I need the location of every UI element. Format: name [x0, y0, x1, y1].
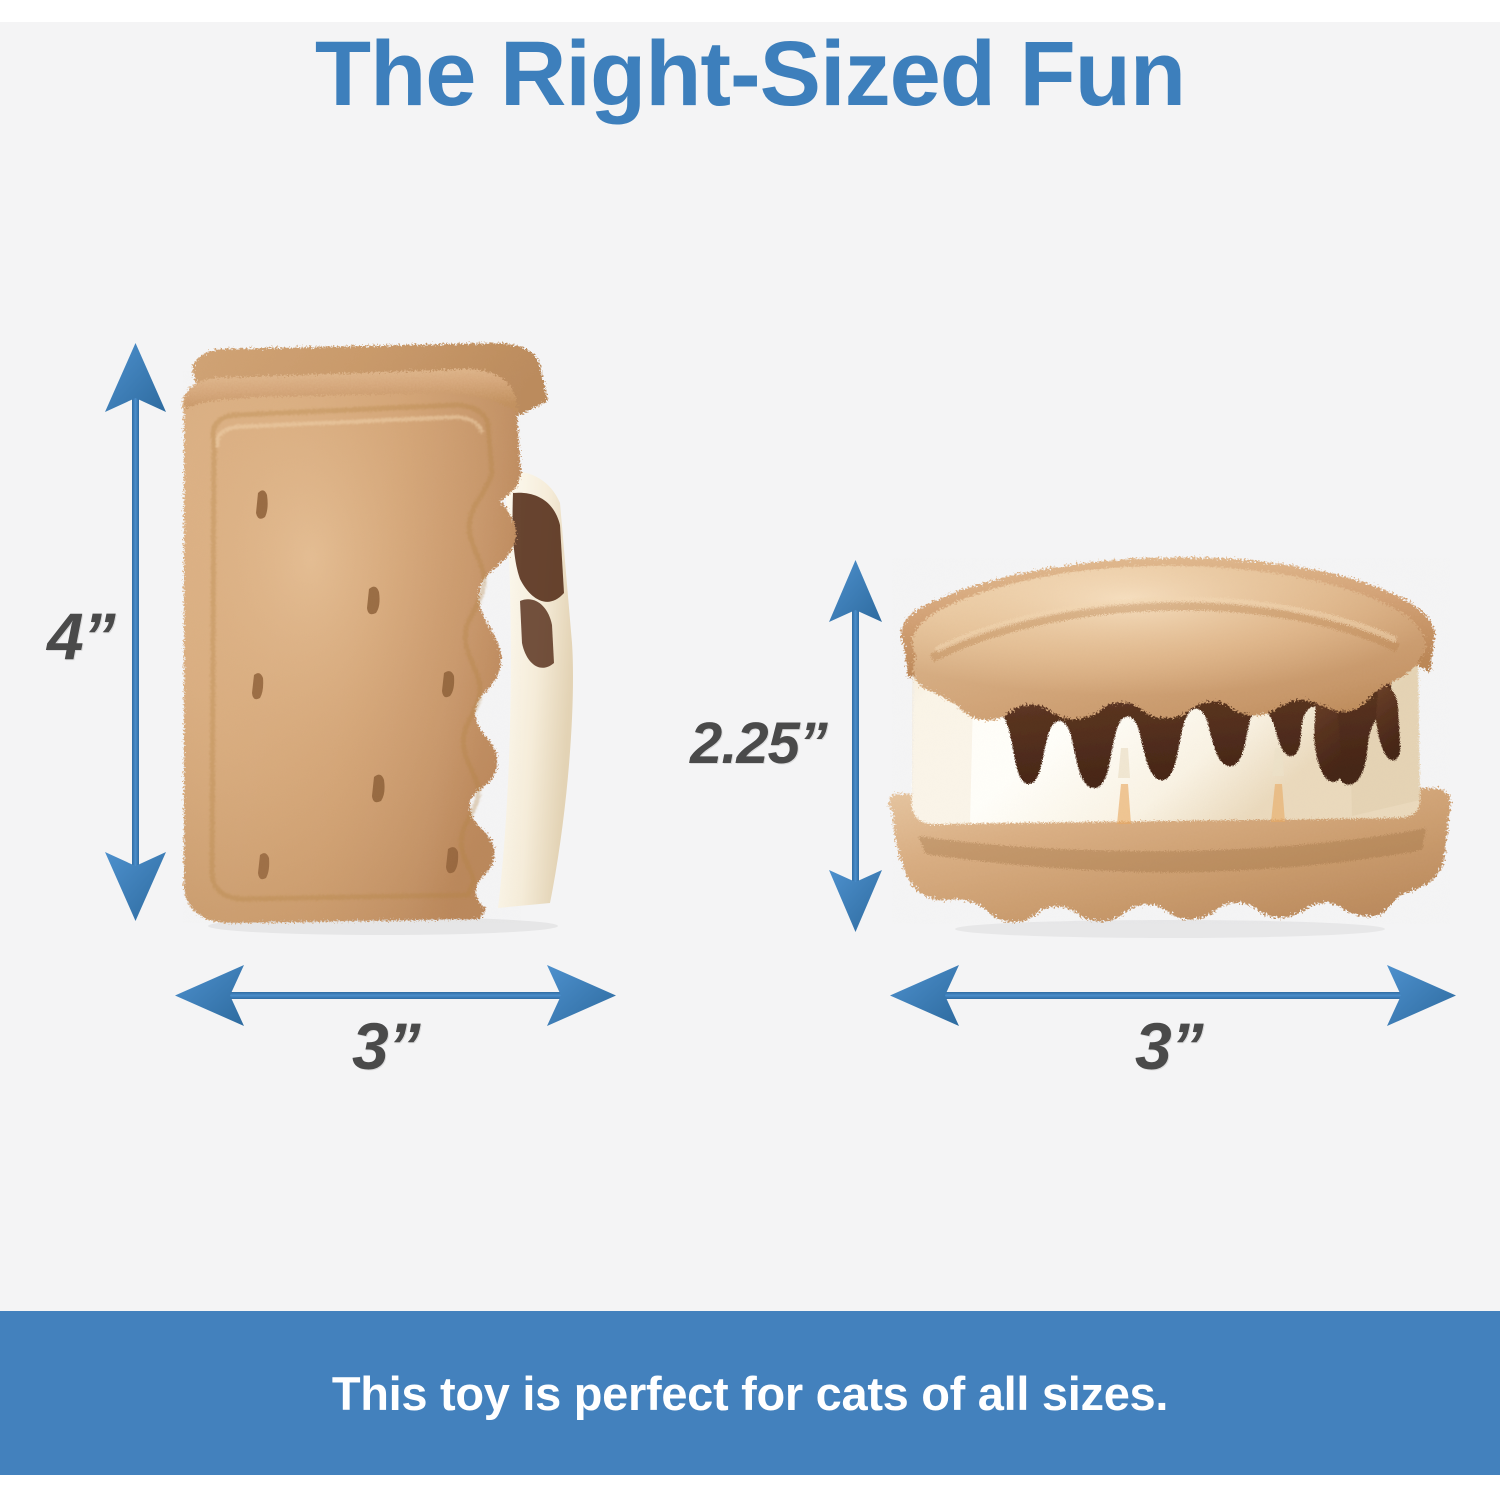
cracker-grain-overlay [183, 371, 521, 923]
smore-sandwich-plush-icon [878, 548, 1463, 938]
graham-cracker-plush-icon [168, 343, 623, 933]
page-title: The Right-Sized Fun [0, 28, 1500, 120]
smore-grain-overlay [892, 558, 1450, 924]
product-image-smore [878, 548, 1463, 938]
product-image-graham-cracker [168, 343, 623, 933]
dimension-label-width-left: 3” [352, 1008, 420, 1084]
dimension-label-width-right: 3” [1135, 1008, 1203, 1084]
banner-message: This toy is perfect for cats of all size… [332, 1366, 1168, 1421]
bottom-banner: This toy is perfect for cats of all size… [0, 1311, 1500, 1475]
dimension-label-height-left: 4” [47, 598, 115, 674]
dimension-label-height-right: 2.25” [690, 710, 827, 777]
infographic-page: The Right-Sized Fun [0, 0, 1500, 1500]
